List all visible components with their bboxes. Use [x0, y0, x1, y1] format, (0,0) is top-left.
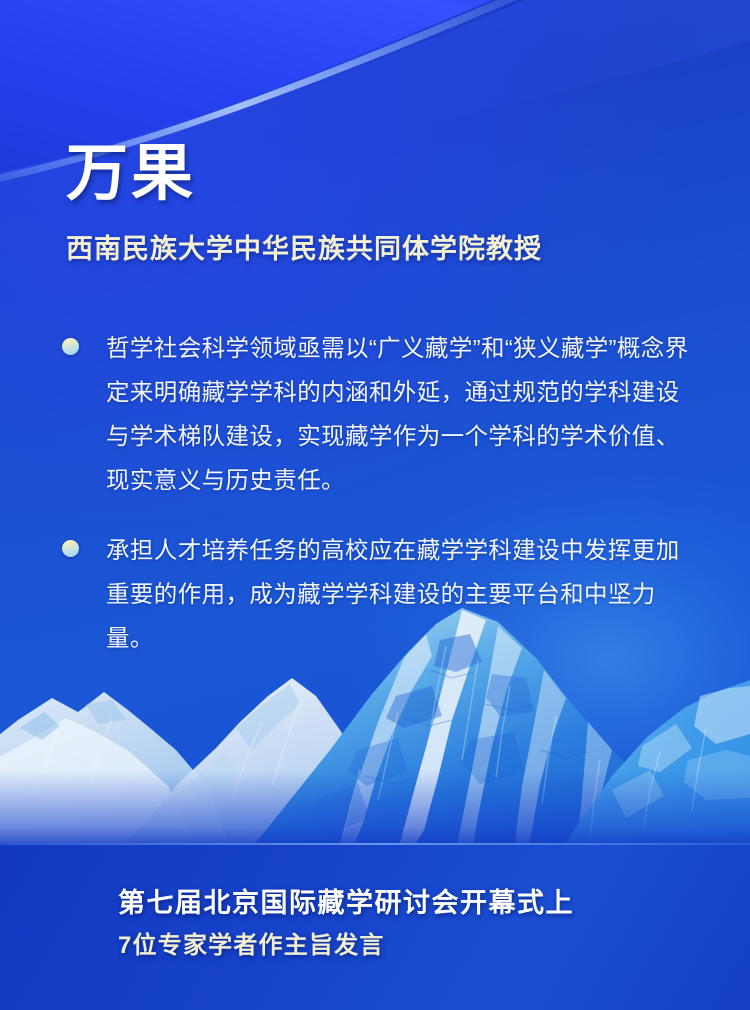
footer-event-title: 第七届北京国际藏学研讨会开幕式上 [118, 890, 574, 917]
bullet-dot-icon [62, 540, 79, 557]
poster-content: 万果 西南民族大学中华民族共同体学院教授 哲学社会科学领域亟需以“广义藏学”和“… [0, 0, 750, 1010]
bullet-dot-icon [62, 338, 79, 355]
speaker-affiliation: 西南民族大学中华民族共同体学院教授 [66, 236, 542, 263]
list-item: 哲学社会科学领域亟需以“广义藏学”和“狭义藏学”概念界定来明确藏学学科的内涵和外… [62, 326, 690, 502]
poster-card: 万果 西南民族大学中华民族共同体学院教授 哲学社会科学领域亟需以“广义藏学”和“… [0, 0, 750, 1010]
bullet-text: 承担人才培养任务的高校应在藏学学科建设中发挥更加重要的作用，成为藏学学科建设的主… [106, 528, 690, 660]
footer-event-subtitle: 7位专家学者作主旨发言 [118, 934, 385, 958]
bullet-list: 哲学社会科学领域亟需以“广义藏学”和“狭义藏学”概念界定来明确藏学学科的内涵和外… [62, 326, 690, 686]
speaker-name: 万果 [66, 143, 196, 205]
bullet-text: 哲学社会科学领域亟需以“广义藏学”和“狭义藏学”概念界定来明确藏学学科的内涵和外… [106, 326, 690, 502]
list-item: 承担人才培养任务的高校应在藏学学科建设中发挥更加重要的作用，成为藏学学科建设的主… [62, 528, 690, 660]
